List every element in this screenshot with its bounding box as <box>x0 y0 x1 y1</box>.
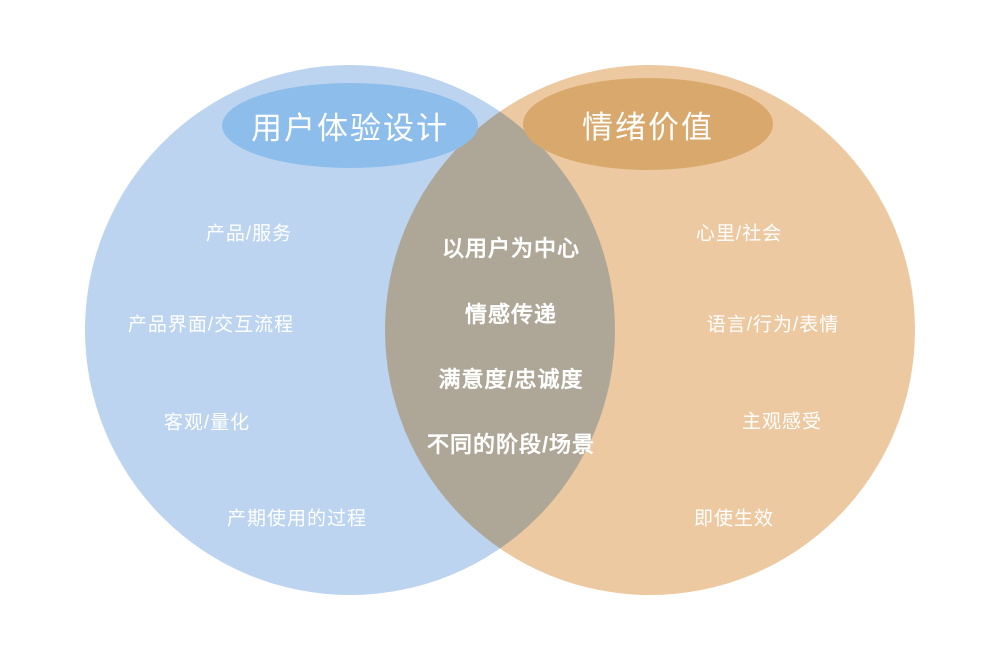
venn-overlap-item: 以用户为中心 <box>442 231 580 263</box>
venn-left-title-badge: 用户体验设计 <box>222 83 478 168</box>
venn-right-item: 语言/行为/表情 <box>707 310 840 337</box>
venn-right-title-badge: 情绪价值 <box>523 78 773 170</box>
venn-overlap-item: 不同的阶段/场景 <box>427 427 595 459</box>
venn-right-title-label: 情绪价值 <box>582 102 714 147</box>
venn-left-item: 产品/服务 <box>206 219 292 246</box>
venn-left-title-label: 用户体验设计 <box>251 103 449 148</box>
venn-right-item: 即使生效 <box>694 504 774 531</box>
venn-right-item: 主观感受 <box>742 407 822 434</box>
venn-diagram: 用户体验设计 情绪价值 产品/服务 产品界面/交互流程 客观/量化 产期使用的过… <box>0 0 1000 660</box>
venn-left-item: 客观/量化 <box>164 408 250 435</box>
venn-left-item: 产期使用的过程 <box>227 504 367 531</box>
venn-overlap-item: 满意度/忠诚度 <box>438 362 583 394</box>
venn-right-item: 心里/社会 <box>696 219 782 246</box>
venn-overlap-item: 情感传递 <box>465 297 557 329</box>
venn-left-item: 产品界面/交互流程 <box>128 310 294 337</box>
